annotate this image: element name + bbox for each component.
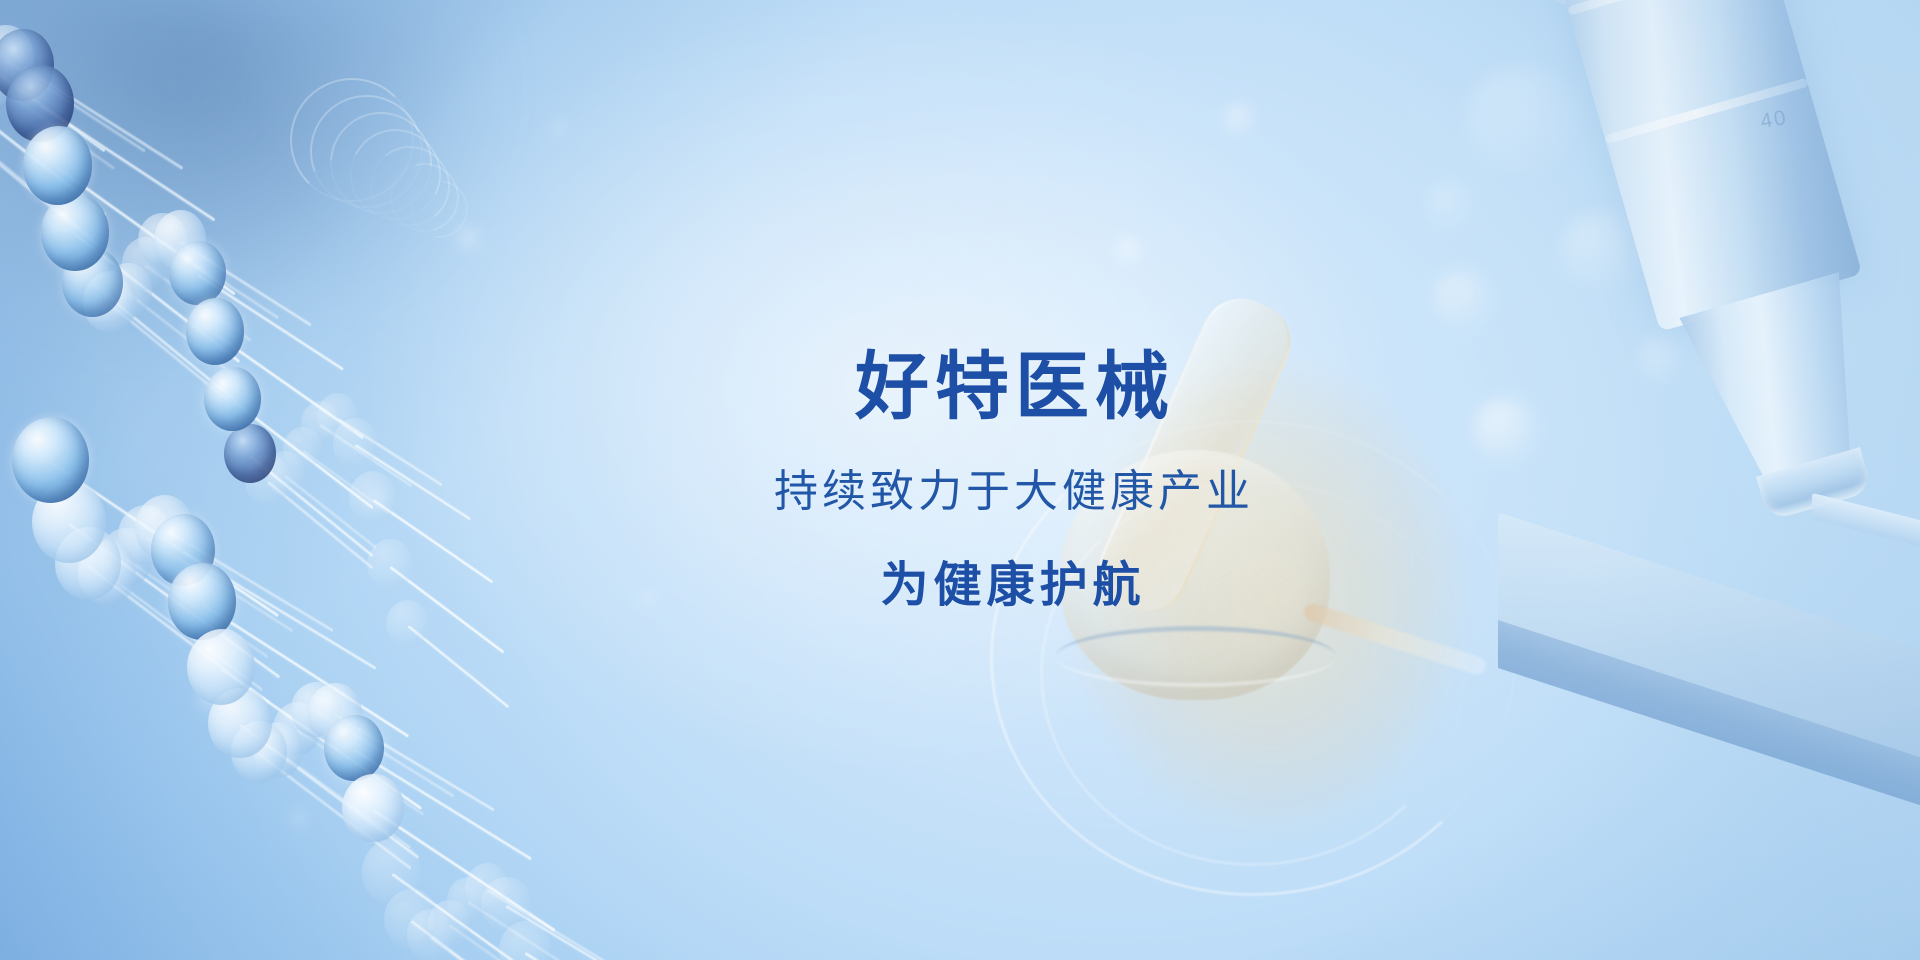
dna-nucleotide-bead bbox=[349, 471, 396, 524]
dna-nucleotide-bead bbox=[23, 126, 93, 205]
hero-banner: 40 好特医械 持续致力于大健康产业 为健康护航 bbox=[0, 0, 1920, 960]
dna-nucleotide-bead bbox=[204, 367, 261, 431]
banner-title: 好特医械 bbox=[855, 350, 1175, 424]
dna-nucleotide-bead bbox=[333, 418, 378, 469]
dna-nucleotide-bead bbox=[187, 629, 255, 705]
dna-nucleotide-bead bbox=[12, 417, 89, 503]
dna-nucleotide-bead bbox=[186, 298, 244, 364]
dna-nucleotide-bead bbox=[367, 539, 413, 591]
dna-nucleotide-bead bbox=[342, 774, 403, 842]
dna-nucleotide-bead bbox=[386, 600, 428, 648]
banner-subtitle: 持续致力于大健康产业 bbox=[774, 470, 1254, 514]
dna-nucleotide-bead bbox=[224, 424, 276, 483]
dna-nucleotide-bead bbox=[41, 194, 108, 271]
dna-nucleotide-bead bbox=[169, 241, 225, 305]
banner-slogan: 为健康护航 bbox=[880, 562, 1145, 610]
dna-nucleotide-bead bbox=[324, 715, 383, 781]
